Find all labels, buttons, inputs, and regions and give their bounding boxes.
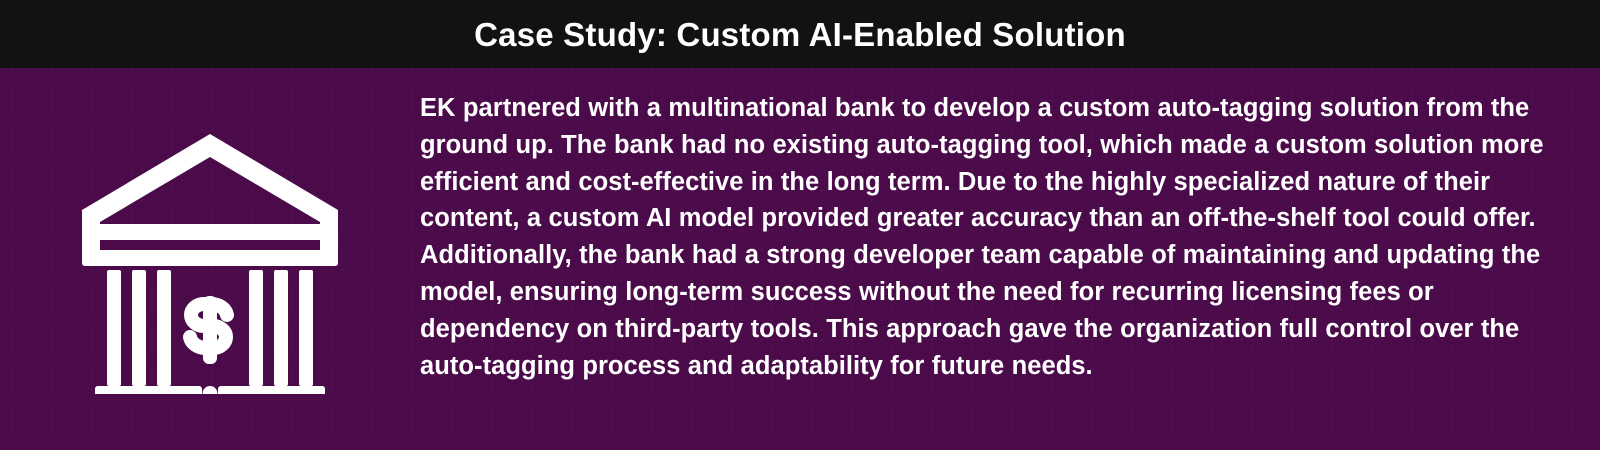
icon-column (0, 68, 420, 450)
page-title: Case Study: Custom AI-Enabled Solution (474, 18, 1126, 51)
case-study-slide: Case Study: Custom AI-Enabled Solution (0, 0, 1600, 450)
case-study-paragraph: EK partnered with a multinational bank t… (420, 90, 1562, 384)
header-bar: Case Study: Custom AI-Enabled Solution (0, 0, 1600, 68)
dollar-sign-icon (190, 296, 227, 364)
bank-icon (75, 124, 345, 394)
text-column: EK partnered with a multinational bank t… (420, 68, 1600, 450)
body-panel: EK partnered with a multinational bank t… (0, 68, 1600, 450)
